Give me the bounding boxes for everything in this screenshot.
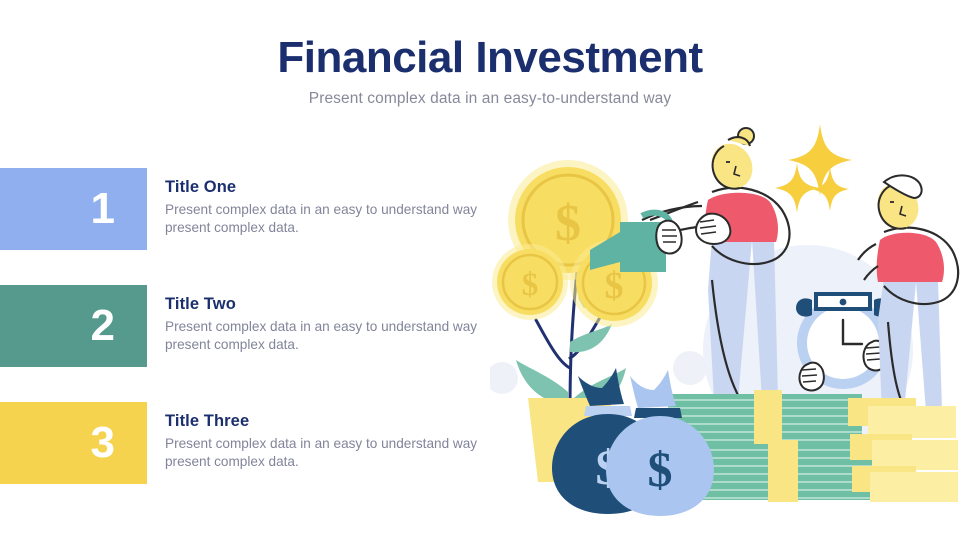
coin-small-left: $ [492,244,568,320]
list-item-text: Title Three Present complex data in an e… [165,412,505,472]
list-item[interactable]: 3 Title Three Present complex data in an… [0,402,510,484]
number-block-1: 1 [0,168,147,250]
list-item-description: Present complex data in an easy to under… [165,318,505,355]
money-bag-light: $ [606,370,714,516]
number-label: 1 [91,187,147,231]
list-item-description: Present complex data in an easy to under… [165,201,505,238]
sparkle-stars [775,124,852,213]
number-label: 3 [91,421,147,465]
list-item-title: Title Two [165,295,505,314]
list-item-text: Title One Present complex data in an eas… [165,178,505,238]
money-bags: $ $ [552,368,714,516]
financial-investment-illustration: $ $ $ [490,110,980,551]
gold-bar-stacks [848,398,958,502]
feature-list: 1 Title One Present complex data in an e… [0,168,510,519]
number-block-3: 3 [0,402,147,484]
list-item[interactable]: 2 Title Two Present complex data in an e… [0,285,510,367]
number-block-2: 2 [0,285,147,367]
slide: Financial Investment Present complex dat… [0,0,980,551]
hand-on-chest [696,214,730,244]
hand-holding-can [656,221,681,254]
number-label: 2 [91,304,147,348]
list-item[interactable]: 1 Title One Present complex data in an e… [0,168,510,250]
person-head [712,128,754,189]
svg-text:$: $ [648,441,673,497]
list-item-description: Present complex data in an easy to under… [165,435,505,472]
person-head [878,175,922,228]
page-title: Financial Investment [0,34,980,82]
svg-text:$: $ [555,195,581,252]
list-item-text: Title Two Present complex data in an eas… [165,295,505,355]
list-item-title: Title Three [165,412,505,431]
svg-text:$: $ [522,267,539,303]
page-subtitle: Present complex data in an easy-to-under… [0,90,980,108]
slide-header: Financial Investment Present complex dat… [0,34,980,108]
list-item-title: Title One [165,178,505,197]
